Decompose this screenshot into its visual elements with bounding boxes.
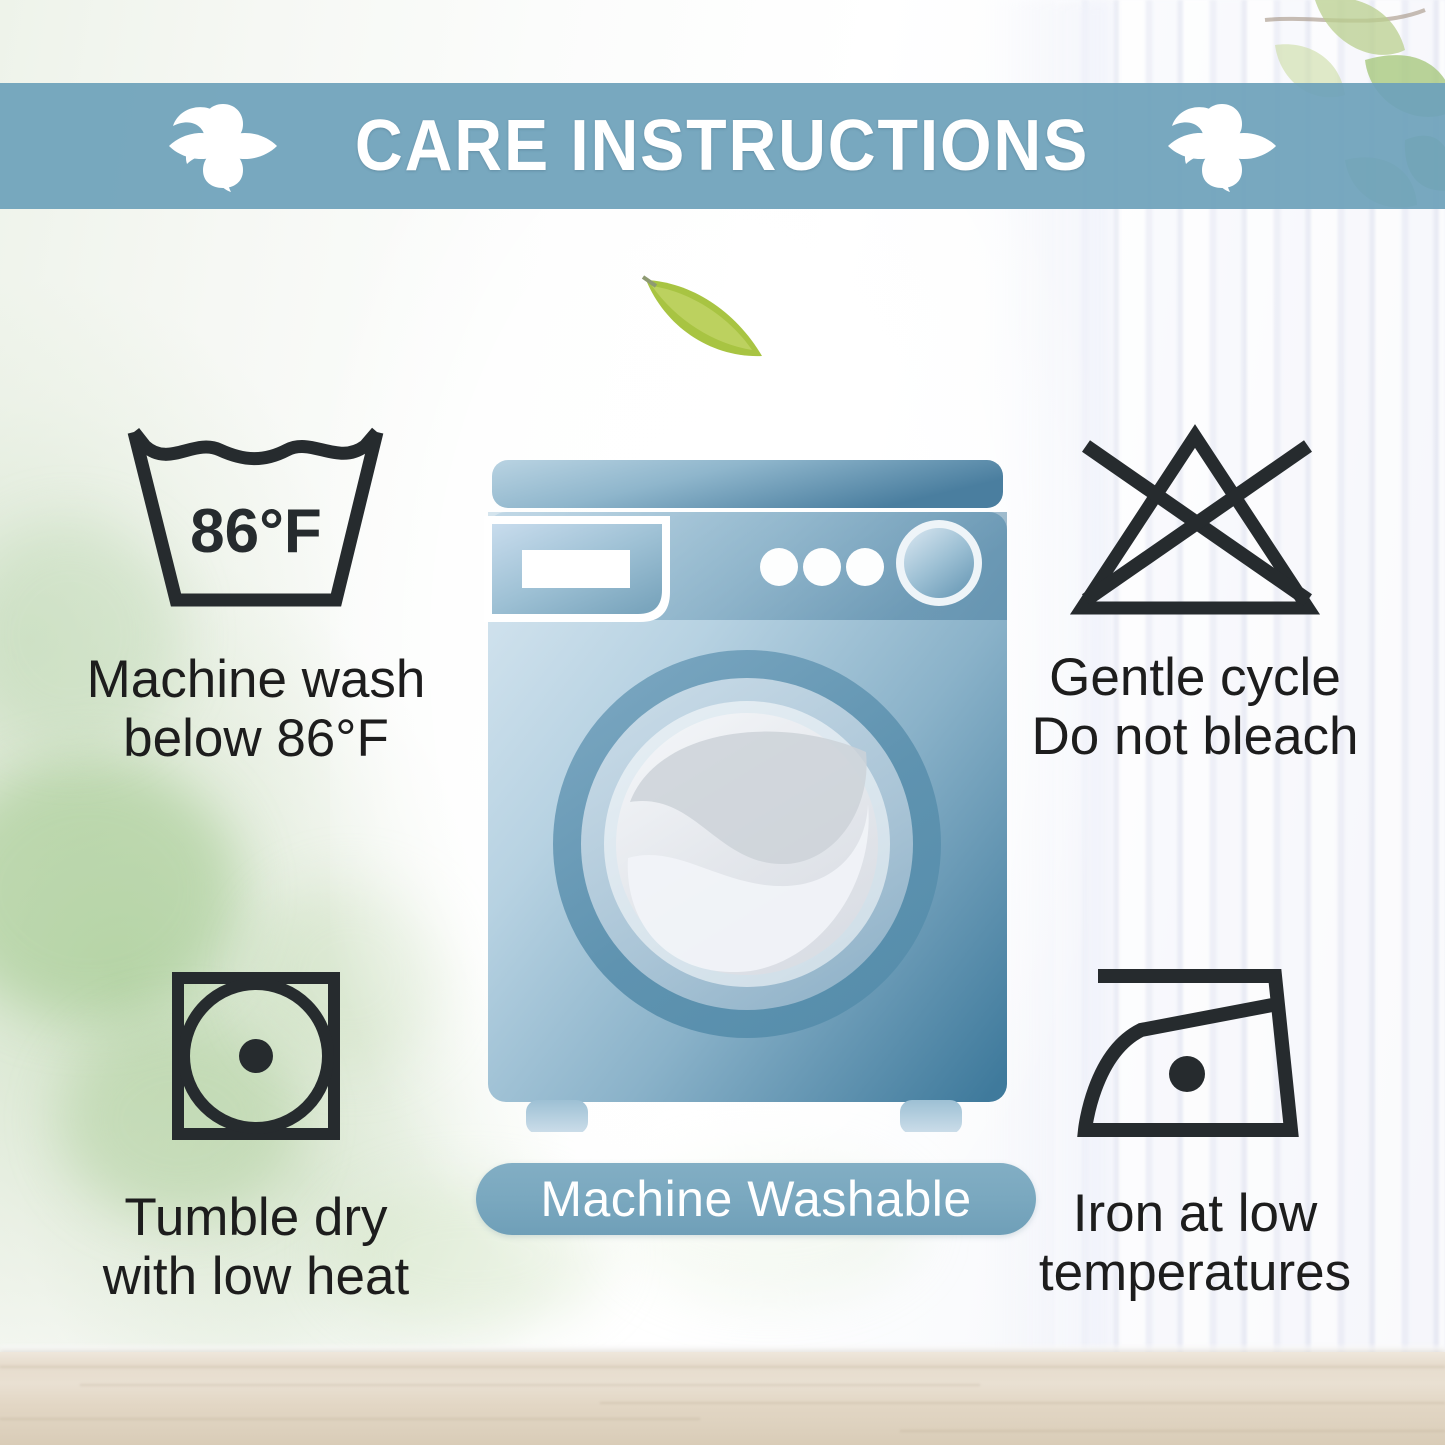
care-symbol-tumble-dry: Tumble dry with low heat — [26, 962, 486, 1307]
machine-washable-badge: Machine Washable — [476, 1163, 1036, 1235]
fleur-de-lis-icon-right — [1162, 98, 1282, 194]
washing-machine-illustration — [480, 452, 1015, 1132]
drawer-slot — [522, 550, 630, 588]
machine-washable-label: Machine Washable — [540, 1170, 971, 1228]
wash-temperature-value: 86°F — [190, 497, 322, 566]
no-bleach-triangle-icon — [1060, 424, 1330, 622]
iron-caption-line1: Iron at low — [1039, 1184, 1351, 1243]
washer-top-lid — [492, 460, 1003, 508]
care-symbol-do-not-bleach: Gentle cycle Do not bleach — [960, 424, 1430, 767]
green-leaf-icon — [640, 272, 770, 362]
wash-caption-line1: Machine wash — [87, 650, 426, 709]
washer-foot-right — [900, 1100, 962, 1132]
bleach-caption-line2: Do not bleach — [1031, 707, 1358, 766]
header-banner: CARE INSTRUCTIONS — [0, 83, 1445, 209]
fleur-de-lis-icon-left — [163, 98, 283, 194]
dry-caption-line1: Tumble dry — [103, 1188, 409, 1247]
floating-leaf — [640, 272, 770, 362]
bleach-caption-line1: Gentle cycle — [1031, 648, 1358, 707]
wash-tub-icon: 86°F — [124, 424, 388, 624]
indicator-dot-1 — [760, 548, 798, 586]
tumble-dry-low-icon — [156, 962, 356, 1162]
dry-caption-line2: with low heat — [103, 1247, 409, 1306]
care-symbol-machine-wash: 86°F Machine wash below 86°F — [26, 424, 486, 769]
indicator-dot-2 — [803, 548, 841, 586]
dial-knob — [904, 528, 974, 598]
washer-foot-left — [526, 1100, 588, 1132]
indicator-dot-3 — [846, 548, 884, 586]
care-instructions-infographic: CARE INSTRUCTIONS 86°F Machine wash — [0, 0, 1445, 1445]
wash-caption-line2: below 86°F — [87, 709, 426, 768]
iron-low-heat-icon — [1067, 962, 1323, 1158]
wooden-table-surface — [0, 1352, 1445, 1445]
iron-caption-line2: temperatures — [1039, 1243, 1351, 1302]
page-title: CARE INSTRUCTIONS — [355, 105, 1089, 187]
care-symbol-iron-low: Iron at low temperatures — [960, 962, 1430, 1303]
